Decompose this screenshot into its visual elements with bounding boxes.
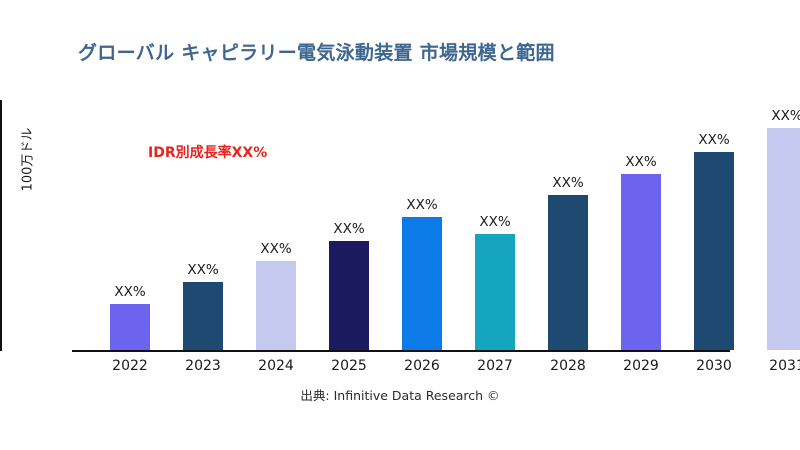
bar-value-label-2029: XX% <box>625 154 656 170</box>
bar-rect-2026[interactable] <box>402 217 442 350</box>
bar-2023[interactable]: XX% <box>183 282 223 350</box>
bar-2024[interactable]: XX% <box>256 261 296 350</box>
bar-2029[interactable]: XX% <box>621 174 661 350</box>
x-tick-2022: 2022 <box>100 358 160 374</box>
x-tick-2024: 2024 <box>246 358 306 374</box>
bar-rect-2024[interactable] <box>256 261 296 350</box>
bar-value-label-2030: XX% <box>698 132 729 148</box>
bar-2030[interactable]: XX% <box>694 152 734 350</box>
y-axis-label: 100万ドル <box>17 95 36 225</box>
bar-2028[interactable]: XX% <box>548 195 588 350</box>
x-tick-2028: 2028 <box>538 358 598 374</box>
x-axis-line <box>72 350 730 352</box>
bar-rect-2025[interactable] <box>329 241 369 350</box>
bar-value-label-2025: XX% <box>333 221 364 237</box>
bar-rect-2029[interactable] <box>621 174 661 350</box>
bar-rect-2027[interactable] <box>475 234 515 350</box>
bar-value-label-2024: XX% <box>260 241 291 257</box>
y-axis-line <box>0 100 2 351</box>
x-tick-2025: 2025 <box>319 358 379 374</box>
source-note: 出典: Infinitive Data Research © <box>0 385 800 404</box>
bar-value-label-2031: XX% <box>771 108 800 124</box>
bar-rect-2028[interactable] <box>548 195 588 350</box>
bar-2027[interactable]: XX% <box>475 234 515 350</box>
bar-value-label-2027: XX% <box>479 214 510 230</box>
bar-value-label-2028: XX% <box>552 175 583 191</box>
x-tick-2031: 2031 <box>757 358 800 374</box>
x-tick-2023: 2023 <box>173 358 233 374</box>
bar-rect-2031[interactable] <box>767 128 800 350</box>
growth-rate-annotation: IDR別成長率XX% <box>148 142 267 162</box>
bar-2025[interactable]: XX% <box>329 241 369 350</box>
x-tick-2027: 2027 <box>465 358 525 374</box>
x-tick-2026: 2026 <box>392 358 452 374</box>
bar-rect-2022[interactable] <box>110 304 150 350</box>
bar-value-label-2023: XX% <box>187 262 218 278</box>
bar-2022[interactable]: XX% <box>110 304 150 350</box>
bar-rect-2023[interactable] <box>183 282 223 350</box>
bar-2026[interactable]: XX% <box>402 217 442 350</box>
bar-rect-2030[interactable] <box>694 152 734 350</box>
bar-value-label-2022: XX% <box>114 284 145 300</box>
x-tick-2030: 2030 <box>684 358 744 374</box>
bar-value-label-2026: XX% <box>406 197 437 213</box>
chart-title: グローバル キャピラリー電気泳動装置 市場規模と範囲 <box>78 38 555 65</box>
bar-2031[interactable]: XX% <box>767 128 800 350</box>
x-tick-2029: 2029 <box>611 358 671 374</box>
